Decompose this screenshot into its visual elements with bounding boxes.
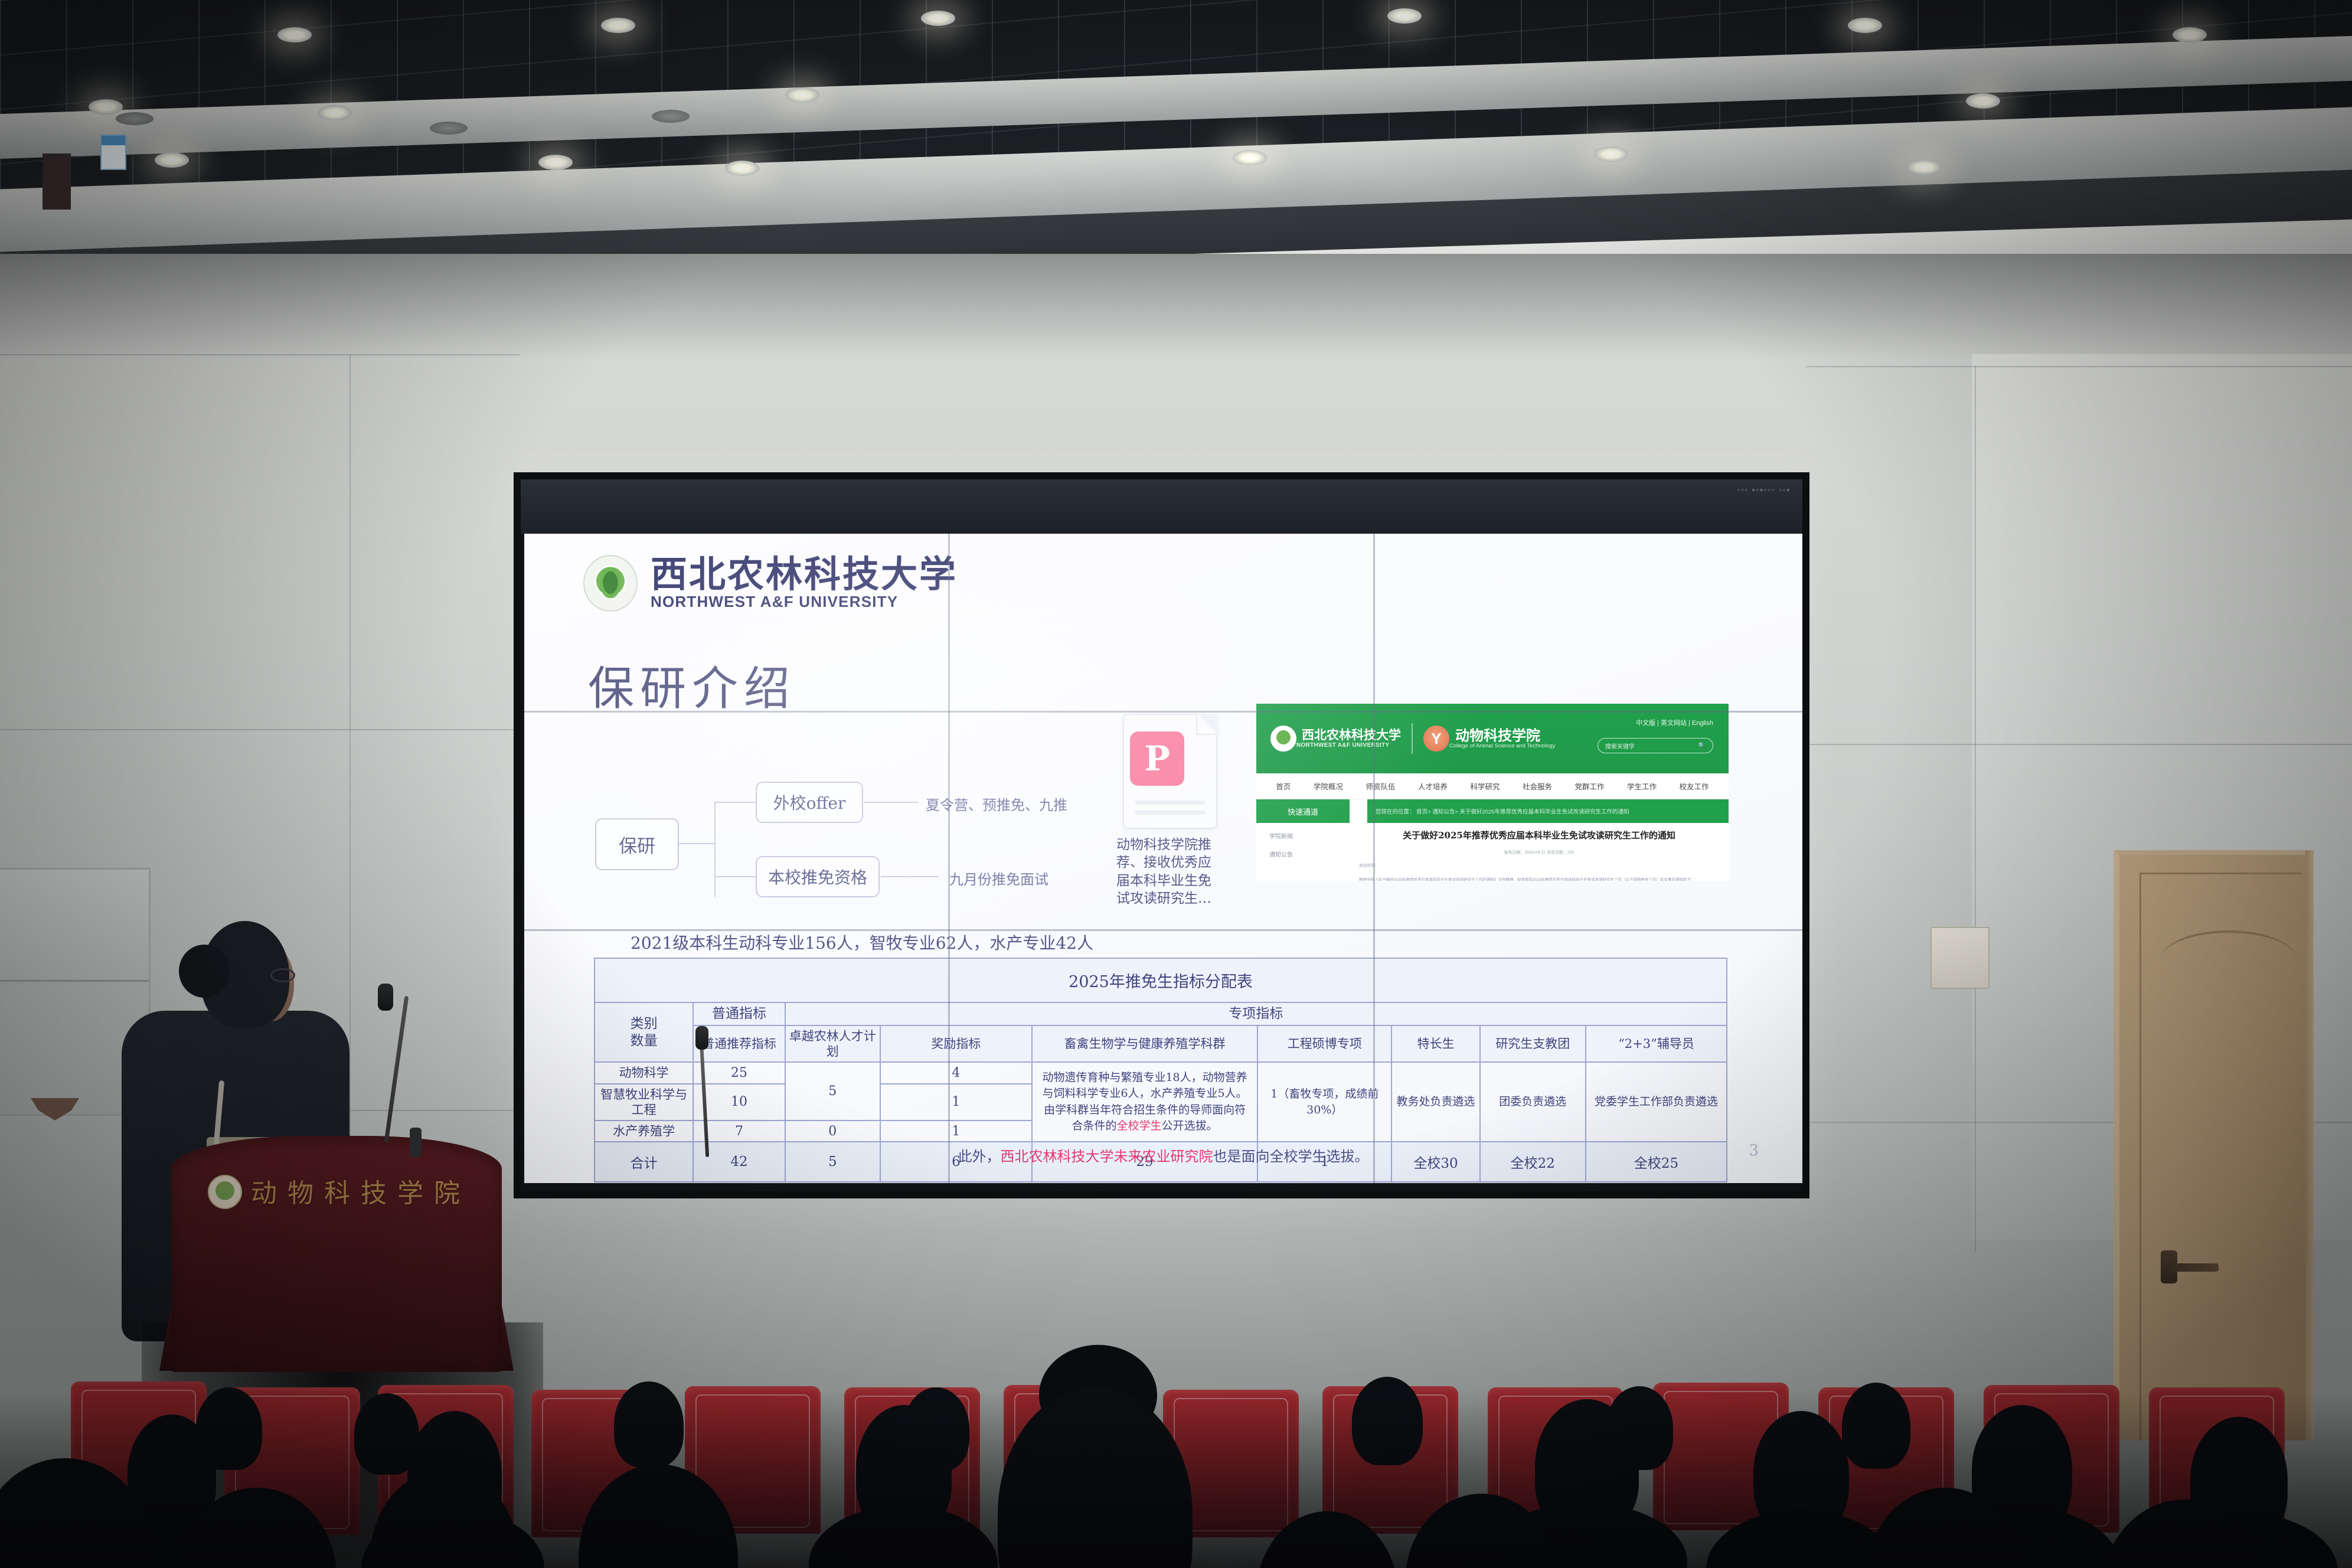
glasses-icon (270, 968, 295, 982)
pdf-attachment-card[interactable]: P 动物科技学院推荐、接收优秀应届本科毕业生免试攻读研究生… (1116, 714, 1224, 907)
slide-page-number: 3 (1749, 1142, 1759, 1159)
flow-note-external: 夏令营、预推免、九推 (926, 793, 1067, 814)
display-bezel-seam-vertical (948, 534, 950, 1183)
pdf-caption: 动物科技学院推荐、接收优秀应届本科毕业生免试攻读研究生… (1116, 836, 1224, 907)
cell-award-quota: 1 (880, 1121, 1032, 1142)
cabinet-sticker (100, 135, 126, 170)
flow-node-root: 保研 (595, 818, 679, 870)
website-header: 西北农林科技大学 NORTHWEST A&F UNIVERSITY 动物科技学院… (1256, 704, 1729, 773)
flow-node-external-offer: 外校offer (756, 782, 863, 823)
nav-item-service[interactable]: 社会服务 (1523, 780, 1552, 792)
flow-connector (714, 802, 716, 897)
smoke-detector (116, 112, 153, 125)
table-caption-row: 2025年推免生指标分配表 (594, 958, 1727, 1002)
admission-flow-diagram: 保研 外校offer 本校推免资格 夏令营、预推免、九推 九月份推免面试 (595, 782, 1020, 900)
website-university-en: NORTHWEST A&F UNIVERSITY (1296, 742, 1401, 749)
cell-counselor-note: 党委学生工作部负责遴选 (1586, 1062, 1727, 1142)
wall-mounted-box (1930, 927, 1990, 989)
ceiling-spotlight (538, 155, 573, 170)
website-university-cn: 西北农林科技大学 (1302, 729, 1401, 741)
website-search-box[interactable]: 搜索关键字 🔍 (1598, 738, 1713, 753)
pdf-badge-glyph: P (1144, 739, 1170, 779)
col-header-discipline: 畜禽生物学与健康养殖学科群 (1032, 1025, 1257, 1063)
foreground-shadow (0, 1391, 2352, 1568)
ceiling-spotlight (1233, 150, 1267, 165)
ceiling-spotlight (89, 99, 123, 115)
flow-connector (881, 876, 939, 877)
website-college-en: College of Animal Science and Technology (1449, 743, 1555, 749)
nav-item-party[interactable]: 党群工作 (1575, 780, 1605, 792)
wall-seam (0, 354, 520, 355)
col-header-engineering: 工程硕博专项 (1257, 1025, 1391, 1063)
sticker-header-band (102, 136, 125, 145)
display-bezel-seam-vertical (1373, 534, 1375, 1183)
sidebar-item-notice[interactable]: 通知公告 (1269, 850, 1350, 858)
corner-label-category: 类别 (597, 1015, 690, 1033)
row-category: 智慧牧业科学与工程 (594, 1084, 693, 1121)
podium-microphone-head (378, 984, 393, 1011)
video-wall-topbar: ▫▫▫ ▪▫▪▫▫▫ ▫▫▪ (521, 479, 1802, 534)
discipline-note-text: 动物遗传育种与繁殖专业18人，动物营养与饲料科学专业6人，水产养殖专业5人。由学… (1042, 1071, 1247, 1133)
website-article: 关于做好2025年推荐优秀应届本科毕业生免试攻读研究生工作的通知 发布日期：20… (1350, 823, 1729, 881)
col-header-excellence: 卓越农林人才计划 (785, 1025, 880, 1063)
ceiling-spotlight (318, 105, 352, 120)
ceiling-spotlight (2173, 27, 2207, 43)
ceiling-spotlight (1848, 18, 1882, 33)
presenter-hair-bun (179, 945, 230, 998)
breadcrumb: 您现在的位置： 首页> 通知公告> 关于做好2025年推荐优秀应届本科毕业生免试… (1367, 799, 1729, 823)
article-meta: 发布日期：2024-09-11 浏览次数：232 (1359, 850, 1719, 855)
article-paragraph-2: 根据学校《关于做好2025年推荐优秀应届本科毕业生免试攻读研究生工作的通知》文件… (1359, 877, 1719, 881)
cell-award-quota: 4 (880, 1062, 1032, 1083)
website-college-cn: 动物科技学院 (1455, 728, 1555, 743)
ceiling-spotlight (1966, 93, 2000, 109)
ceiling-spotlight (155, 152, 189, 168)
group-header-special: 专项指标 (785, 1002, 1727, 1025)
search-placeholder: 搜索关键字 (1605, 741, 1635, 750)
podium-university-seal-icon (208, 1175, 242, 1209)
slide-footer-note: 此外，西北农林科技大学未来农业研究院也是面向全校学生选拔。 (524, 1145, 1802, 1165)
nav-item-students[interactable]: 学生工作 (1627, 780, 1657, 792)
display-bezel-seam-horizontal (524, 929, 1802, 931)
flow-node-internal-qualification: 本校推免资格 (756, 856, 880, 897)
nav-item-overview[interactable]: 学院概况 (1314, 780, 1343, 792)
row-category: 动物科学 (594, 1062, 693, 1083)
ceiling-spotlight (277, 27, 312, 43)
pdf-document-icon: P (1123, 714, 1217, 829)
slide-title: 保研介绍 (588, 652, 796, 718)
col-header-talent: 特长生 (1391, 1025, 1479, 1063)
cell-talent-note: 教务处负责遴选 (1391, 1062, 1479, 1142)
corner-label-count: 数量 (597, 1033, 690, 1050)
table-caption: 2025年推免生指标分配表 (594, 958, 1727, 1002)
nav-item-home[interactable]: 首页 (1276, 780, 1291, 792)
table-row: 动物科学 25 5 4 动物遗传育种与繁殖专业18人，动物营养与饲料科学专业6人… (594, 1062, 1727, 1083)
flow-connector (714, 802, 757, 803)
sidebar-item-news[interactable]: 学院新闻 (1269, 831, 1350, 840)
quick-access-label[interactable]: 快速通道 (1256, 799, 1350, 823)
table-column-header-row: 普通推荐指标 卓越农林人才计划 奖励指标 畜禽生物学与健康养殖学科群 工程硕博专… (594, 1025, 1727, 1063)
flow-note-internal: 九月份推免面试 (949, 868, 1048, 888)
ceiling-spotlight (725, 161, 759, 176)
nav-item-faculty[interactable]: 师资队伍 (1366, 780, 1395, 792)
cell-engineering-note: 1（畜牧专项，成绩前30%） (1257, 1062, 1391, 1142)
wall-seam (0, 729, 520, 730)
table-corner-label: 类别 数量 (594, 1002, 693, 1062)
cell-teaching-note: 团委负责遴选 (1480, 1062, 1586, 1142)
ceiling-spotlight (921, 11, 955, 26)
podium-college-label: 动物科技学院 (251, 1172, 471, 1210)
smoke-detector (430, 122, 468, 135)
footer-text: 此外，西北农林科技大学未来农业研究院也是面向全校学生选拔。 (958, 1148, 1369, 1165)
ceiling-spotlight (601, 18, 635, 33)
website-nav[interactable]: 首页 学院概况 师资队伍 人才培养 科学研究 社会服务 党群工作 学生工作 校友… (1256, 773, 1729, 799)
video-wall-status-text: ▫▫▫ ▪▫▪▫▫▫ ▫▫▪ (1737, 485, 1791, 494)
pdf-placeholder-lines (1135, 795, 1206, 815)
article-paragraph-1: 各位同学： (1359, 863, 1719, 870)
wall-shadow-gradient (0, 254, 2352, 360)
smoke-detector (652, 110, 690, 123)
ceiling-spotlight (785, 87, 819, 103)
cohort-statistics: 2021级本科生动科专业156人，智牧专业62人，水产专业42人 (631, 930, 1093, 954)
ceiling-spotlight (1387, 8, 1422, 24)
display-bezel-seam-horizontal (524, 711, 1802, 713)
pdf-badge-icon: P (1130, 731, 1184, 786)
cabinet-dark-plate (43, 153, 71, 210)
subbar-gap (1350, 799, 1367, 823)
cell-discipline-note: 动物遗传育种与繁殖专业18人，动物营养与饲料科学专业6人，水产养殖专业5人。由学… (1032, 1062, 1257, 1142)
col-header-teaching-team: 研究生支教团 (1480, 1025, 1586, 1063)
table-group-header-row: 类别 数量 普通指标 专项指标 (594, 1002, 1727, 1025)
search-icon[interactable]: 🔍 (1698, 743, 1706, 749)
lecture-hall-scene: ▫▫▫ ▪▫▪▫▫▫ ▫▫▪ 西北农林科技大学 NORTHWEST A&F UN… (0, 0, 2352, 1568)
presentation-slide: 西北农林科技大学 NORTHWEST A&F UNIVERSITY 保研介绍 保… (524, 534, 1802, 1183)
wall-seam-vertical (1975, 366, 1976, 1252)
wall-seam (1807, 366, 2352, 367)
discipline-note-highlight: 全校学生 (1117, 1119, 1162, 1132)
row-category: 水产养殖学 (594, 1121, 693, 1142)
cell-normal-quota: 10 (693, 1084, 785, 1121)
slide-university-logo: 西北农林科技大学 NORTHWEST A&F UNIVERSITY (583, 555, 958, 612)
video-wall-screen: ▫▫▫ ▪▫▪▫▫▫ ▫▫▪ 西北农林科技大学 NORTHWEST A&F UN… (521, 479, 1802, 1191)
ceiling-spotlight (1594, 146, 1628, 162)
footer-highlight: 西北农林科技大学未来农业研究院 (1001, 1148, 1213, 1165)
website-subbar: 快速通道 您现在的位置： 首页> 通知公告> 关于做好2025年推荐优秀应届本科… (1256, 799, 1729, 823)
flow-connector (864, 802, 919, 803)
university-seal-icon (583, 555, 638, 612)
col-header-award: 奖励指标 (880, 1025, 1032, 1063)
website-header-divider (1412, 723, 1413, 754)
group-header-normal: 普通指标 (693, 1002, 785, 1025)
nav-item-education[interactable]: 人才培养 (1418, 780, 1448, 792)
website-sidebar[interactable]: 学院新闻 通知公告 (1256, 823, 1350, 881)
website-university-seal-icon (1270, 726, 1296, 752)
podium-microphone-base (410, 1128, 422, 1157)
university-name-cn: 西北农林科技大学 (651, 556, 958, 593)
article-title: 关于做好2025年推荐优秀应届本科毕业生免试攻读研究生工作的通知 (1359, 829, 1719, 841)
col-header-counselor: “2+3”辅导员 (1586, 1025, 1727, 1063)
wall-seam (1807, 744, 2352, 745)
website-body: 学院新闻 通知公告 关于做好2025年推荐优秀应届本科毕业生免试攻读研究生工作的… (1256, 823, 1729, 881)
cell-normal-quota: 25 (693, 1062, 785, 1083)
cell-excellence-quota: 5 (785, 1062, 880, 1121)
flow-connector (679, 843, 714, 844)
ceiling-spotlight (1907, 159, 1941, 175)
cell-award-quota: 1 (880, 1084, 1032, 1121)
nav-item-alumni[interactable]: 校友工作 (1680, 780, 1709, 792)
video-wall-display[interactable]: ▫▫▫ ▪▫▪▫▫▫ ▫▫▪ 西北农林科技大学 NORTHWEST A&F UN… (514, 472, 1809, 1198)
flow-connector (714, 876, 757, 877)
nav-item-research[interactable]: 科学研究 (1470, 780, 1500, 792)
college-logo-icon (1423, 726, 1449, 752)
microphone-head (695, 1026, 708, 1050)
college-website-screenshot: 西北农林科技大学 NORTHWEST A&F UNIVERSITY 动物科技学院… (1256, 704, 1729, 881)
website-language-links[interactable]: 中文版 | 英文网站 | English (1636, 718, 1713, 727)
cell-excellence-quota: 0 (785, 1121, 880, 1142)
